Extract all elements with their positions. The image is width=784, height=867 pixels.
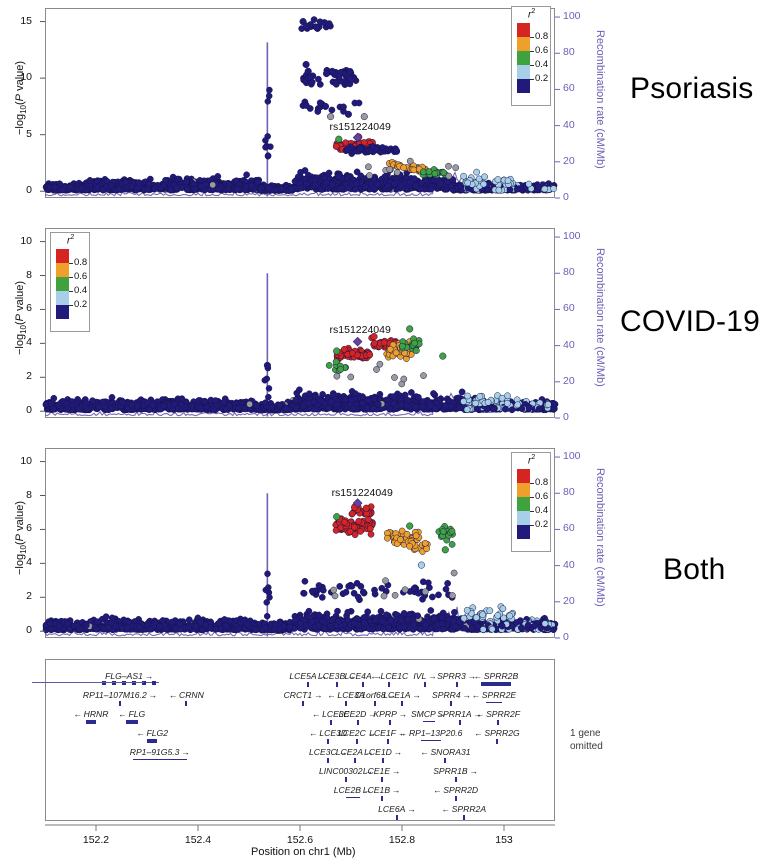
panel2-y-tick-1: 2: [0, 370, 32, 382]
panel3-recomb-tick-4: 80: [563, 486, 575, 498]
panel2-y-tick-3: 6: [0, 302, 32, 314]
panel3-y-tick-2: 4: [0, 556, 32, 568]
legend-swatch-3: [517, 65, 530, 79]
panel3-recomb-tick-5: 100: [563, 450, 581, 462]
legend-swatch-0: [56, 249, 69, 263]
panel1-recomb-tick-4: 80: [563, 46, 575, 58]
legend-value-0: 0.8: [535, 31, 548, 42]
panel3-legend: r20.80.60.40.2: [511, 452, 551, 552]
panel3-y-tick-1: 2: [0, 590, 32, 602]
legend-value-1: 0.6: [535, 45, 548, 56]
panel3-y-tick-0: 0: [0, 624, 32, 636]
lead-snp-label-panel2: rs151224049: [330, 324, 391, 336]
gene-track-panel: FLG–AS1 →LCE5A →LCE3B →LCE4A →← LCE1CIVL…: [0, 655, 784, 867]
legend-value-2: 0.4: [74, 285, 87, 296]
legend-value-0: 0.8: [535, 477, 548, 488]
x-axis-label: Position on chr1 (Mb): [251, 846, 356, 858]
legend-tick-3: [530, 525, 534, 526]
legend-swatch-2: [517, 497, 530, 511]
legend-swatch-4: [517, 79, 530, 93]
panel1-recomb-tick-1: 20: [563, 155, 575, 167]
panel2-y-tick-0: 0: [0, 404, 32, 416]
x-tick-3: 152.8: [382, 834, 422, 846]
panel2-recomb-tick-0: 0: [563, 411, 569, 423]
panel1-recomb-tick-3: 60: [563, 82, 575, 94]
legend-tick-0: [69, 263, 73, 264]
lead-snp-label-panel1: rs151224049: [330, 121, 391, 133]
legend-tick-3: [69, 305, 73, 306]
panel1-y-tick-0: 0: [0, 184, 32, 196]
legend-swatch-4: [517, 525, 530, 539]
legend-swatch-0: [517, 23, 530, 37]
legend-swatch-1: [517, 483, 530, 497]
panel2-recomb-tick-1: 20: [563, 375, 575, 387]
x-tick-0: 152.2: [76, 834, 116, 846]
legend-value-3: 0.2: [535, 73, 548, 84]
legend-tick-0: [530, 37, 534, 38]
panel1-recomb-tick-0: 0: [563, 191, 569, 203]
panel2-y-tick-2: 4: [0, 336, 32, 348]
legend-title: r2: [528, 454, 535, 466]
legend-swatch-3: [56, 291, 69, 305]
panel2-y-tick-4: 8: [0, 269, 32, 281]
panel3-y-tick-3: 6: [0, 522, 32, 534]
panel3-scatter: [0, 435, 784, 655]
panel1-recomb-tick-2: 40: [563, 119, 575, 131]
panel2-y-tick-5: 10: [0, 235, 32, 247]
legend-value-3: 0.2: [74, 299, 87, 310]
legend-colorbar: [517, 469, 530, 539]
panel3-recomb-tick-3: 60: [563, 522, 575, 534]
panel3-y-tick-5: 10: [0, 455, 32, 467]
panel2-recomb-tick-2: 40: [563, 339, 575, 351]
legend-value-2: 0.4: [535, 505, 548, 516]
legend-swatch-4: [56, 305, 69, 319]
legend-value-3: 0.2: [535, 519, 548, 530]
panel2-recomb-tick-5: 100: [563, 230, 581, 242]
legend-swatch-2: [56, 277, 69, 291]
x-tick-1: 152.4: [178, 834, 218, 846]
panel1-y-tick-3: 15: [0, 15, 32, 27]
panel3-recomb-tick-1: 20: [563, 595, 575, 607]
lead-snp-label-panel3: rs151224049: [332, 487, 393, 499]
panel2-recomb-tick-3: 60: [563, 302, 575, 314]
legend-swatch-0: [517, 469, 530, 483]
legend-tick-1: [69, 277, 73, 278]
panel1-scatter: [0, 0, 784, 215]
panel-psoriasis: −log10(P value) Recombination rate (cM/M…: [0, 0, 784, 215]
legend-tick-2: [530, 65, 534, 66]
legend-title: r2: [528, 8, 535, 20]
legend-tick-3: [530, 79, 534, 80]
legend-swatch-1: [517, 37, 530, 51]
panel-covid19: −log10(P value) Recombination rate (cM/M…: [0, 215, 784, 435]
panel2-recomb-tick-4: 80: [563, 266, 575, 278]
legend-swatch-2: [517, 51, 530, 65]
legend-swatch-1: [56, 263, 69, 277]
panel-both: −log10(P value) Recombination rate (cM/M…: [0, 435, 784, 655]
panel3-recomb-tick-0: 0: [563, 631, 569, 643]
panel1-y-tick-2: 10: [0, 71, 32, 83]
legend-tick-1: [530, 497, 534, 498]
legend-title: r2: [67, 234, 74, 246]
legend-colorbar: [56, 249, 69, 319]
legend-tick-2: [69, 291, 73, 292]
panel2-scatter: [0, 215, 784, 435]
legend-colorbar: [517, 23, 530, 93]
x-tick-4: 153: [484, 834, 524, 846]
legend-value-0: 0.8: [74, 257, 87, 268]
panel1-y-tick-1: 5: [0, 128, 32, 140]
panel3-recomb-tick-2: 40: [563, 559, 575, 571]
legend-tick-0: [530, 483, 534, 484]
legend-tick-1: [530, 51, 534, 52]
panel2-legend: r20.80.60.40.2: [50, 232, 90, 332]
panel1-recomb-tick-5: 100: [563, 10, 581, 22]
locuszoom-figure: −log10(P value) Recombination rate (cM/M…: [0, 0, 784, 867]
panel3-y-tick-4: 8: [0, 489, 32, 501]
legend-value-2: 0.4: [535, 59, 548, 70]
legend-value-1: 0.6: [74, 271, 87, 282]
legend-value-1: 0.6: [535, 491, 548, 502]
x-tick-2: 152.6: [280, 834, 320, 846]
panel1-legend: r20.80.60.40.2: [511, 6, 551, 106]
legend-swatch-3: [517, 511, 530, 525]
legend-tick-2: [530, 511, 534, 512]
